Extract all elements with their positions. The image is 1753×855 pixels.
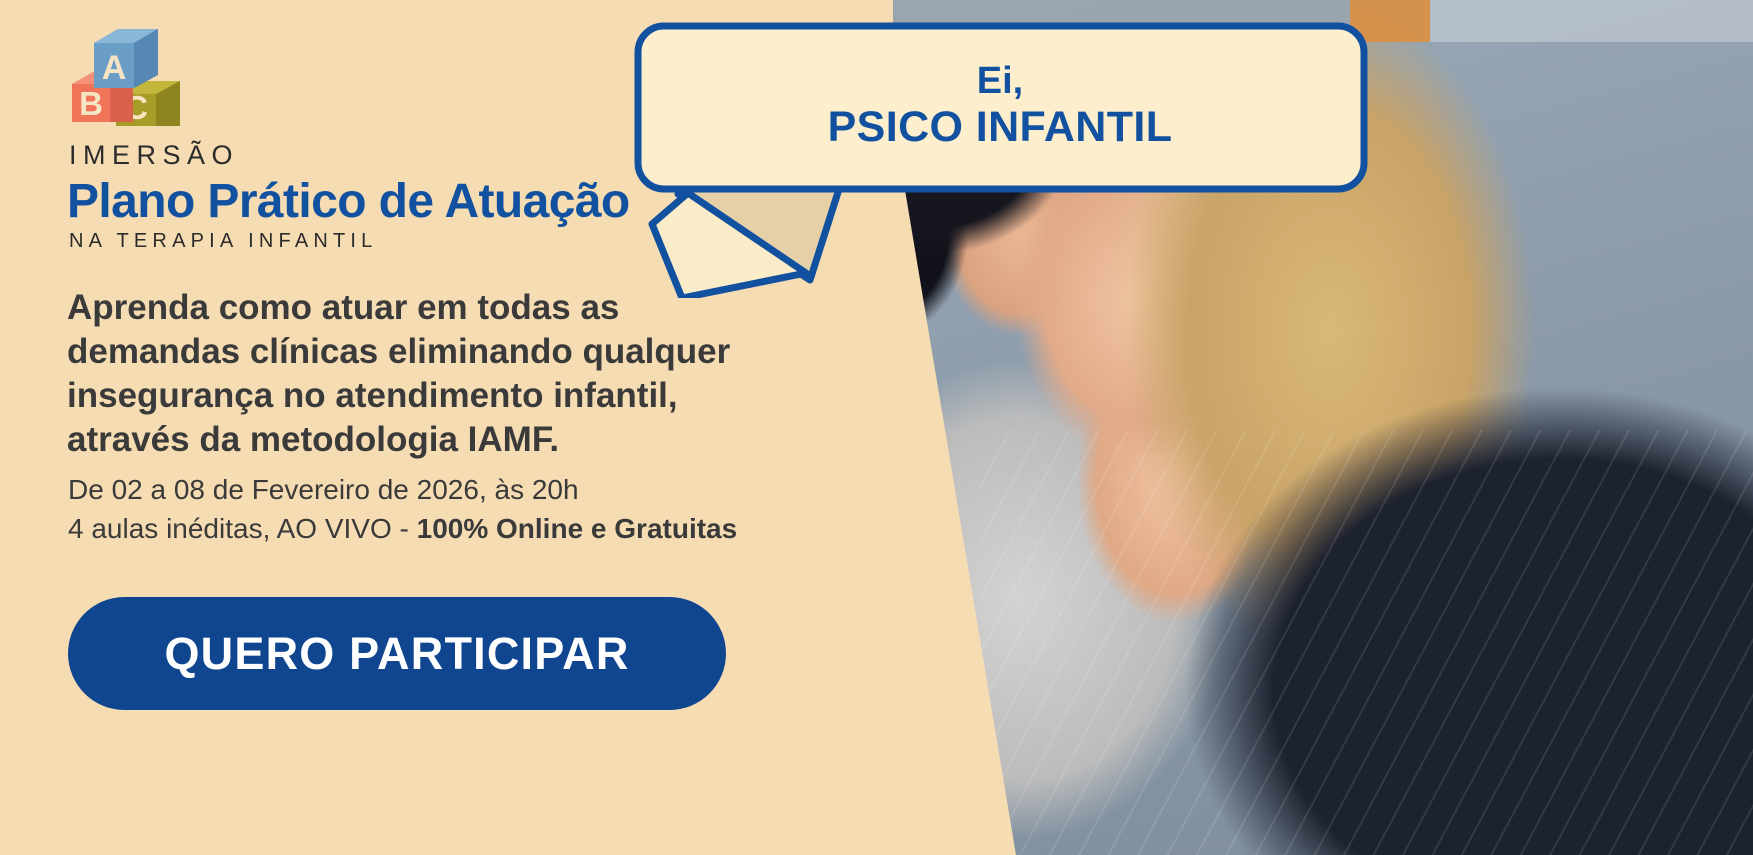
kicker-imersao: IMERSÃO [69,140,239,171]
abc-blocks-logo: C B A [68,26,188,132]
photo-floor-mat-texture [980,430,1753,855]
schedule-details-prefix: 4 aulas inéditas, AO VIVO - [68,513,417,544]
schedule-details-highlight: 100% Online e Gratuitas [417,513,738,544]
schedule-date-line: De 02 a 08 de Fevereiro de 2026, às 20h [68,474,928,506]
abc-blocks-svg: C B A [68,26,188,132]
svg-text:B: B [79,85,103,122]
block-a-icon: A [94,29,158,88]
promo-banner: C B A IMERSÃO Plano Prático de Atuação [0,0,1753,855]
svg-text:A: A [102,49,127,87]
schedule-details-line: 4 aulas inéditas, AO VIVO - 100% Online … [68,513,928,545]
subkicker-terapia-infantil: NA TERAPIA INFANTIL [69,230,378,253]
body-paragraph: Aprenda como atuar em todas as demandas … [67,286,797,462]
quero-participar-button[interactable]: QUERO PARTICIPAR [68,597,726,710]
page-title: Plano Prático de Atuação [67,174,630,229]
